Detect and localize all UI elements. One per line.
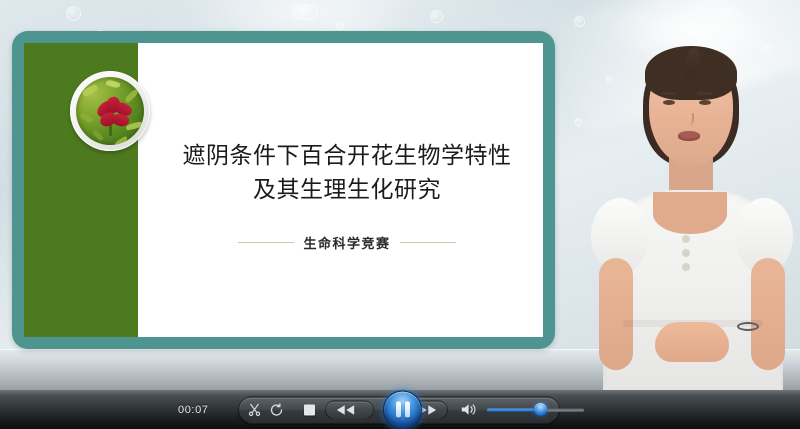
stop-icon[interactable] xyxy=(304,400,315,420)
presenter-neckline xyxy=(653,192,727,234)
slide-page: 遮阴条件下百合开花生物学特性 及其生理生化研究 生命科学竞赛 xyxy=(24,43,543,337)
time-display: 00:07 xyxy=(178,404,209,416)
backdrop-bubble xyxy=(66,6,81,21)
presenter-hands xyxy=(655,322,729,362)
cut-icon[interactable] xyxy=(247,400,262,420)
dress-button xyxy=(683,250,689,256)
presenter-arm-right xyxy=(751,258,785,370)
backdrop-bubble xyxy=(574,118,582,126)
lily-photo-icon xyxy=(76,77,144,145)
volume-slider-knob[interactable] xyxy=(534,403,547,416)
subtitle-rule-right xyxy=(400,242,456,243)
backdrop-bubble xyxy=(336,22,344,30)
presenter-nose xyxy=(686,113,694,125)
backdrop-bubble xyxy=(430,10,443,23)
presenter-bracelet xyxy=(737,322,759,331)
presenter-eye-right xyxy=(699,100,711,105)
presenter-eyebrow-right xyxy=(697,92,712,95)
slide-title: 遮阴条件下百合开花生物学特性 及其生理生化研究 xyxy=(152,139,542,207)
slide-subtitle: 生命科学竞赛 xyxy=(303,233,390,252)
presenter-video xyxy=(585,0,800,390)
presentation-slide[interactable]: 遮阴条件下百合开花生物学特性 及其生理生化研究 生命科学竞赛 xyxy=(12,31,555,349)
player-control-bar[interactable]: 00:07 xyxy=(0,390,800,429)
dress-button xyxy=(683,236,689,242)
presenter-arm-left xyxy=(599,258,633,370)
slide-subtitle-row: 生命科学竞赛 xyxy=(152,233,542,252)
video-player: 遮阴条件下百合开花生物学特性 及其生理生化研究 生命科学竞赛 xyxy=(0,0,800,429)
video-stage[interactable]: 遮阴条件下百合开花生物学特性 及其生理生化研究 生命科学竞赛 xyxy=(0,0,800,390)
dress-button xyxy=(683,264,689,270)
pause-icon xyxy=(405,402,410,418)
subtitle-rule-left xyxy=(238,242,294,243)
presenter-mouth xyxy=(678,131,700,141)
rewind-icon[interactable] xyxy=(325,400,374,419)
volume-control[interactable] xyxy=(459,400,584,420)
backdrop-bubble xyxy=(292,4,318,20)
volume-icon[interactable] xyxy=(459,400,479,420)
volume-slider-track[interactable] xyxy=(487,408,584,411)
backdrop-bubble xyxy=(574,16,585,27)
volume-slider-fill xyxy=(487,408,540,411)
presenter-eyebrow-left xyxy=(661,92,676,95)
replay-icon[interactable] xyxy=(269,400,284,420)
pause-icon xyxy=(396,402,401,418)
pause-button[interactable] xyxy=(383,390,422,429)
presenter-eye-left xyxy=(663,100,675,105)
lily-logo-medallion xyxy=(70,71,150,151)
